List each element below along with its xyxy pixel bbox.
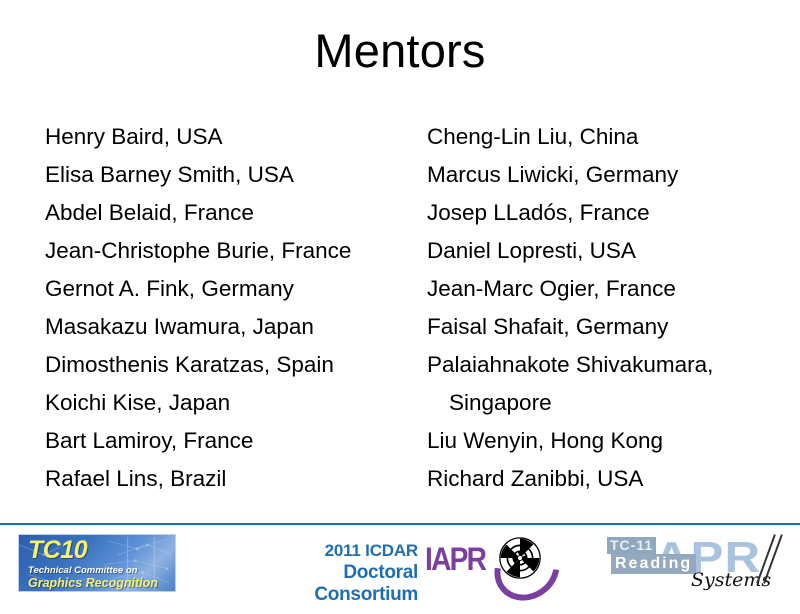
list-item: Faisal Shafait, Germany bbox=[427, 308, 797, 346]
list-item: Koichi Kise, Japan bbox=[45, 384, 425, 422]
list-item: Jean-Marc Ogier, France bbox=[427, 270, 797, 308]
list-item: Bart Lamiroy, France bbox=[45, 422, 425, 460]
list-item: Henry Baird, USA bbox=[45, 118, 425, 156]
mentor-column-right: Cheng-Lin Liu, China Marcus Liwicki, Ger… bbox=[427, 118, 797, 498]
mentor-column-left: Henry Baird, USA Elisa Barney Smith, USA… bbox=[45, 118, 425, 498]
tc10-title: TC10 bbox=[28, 536, 87, 565]
list-item-line-1: Palaiahnakote Shivakumara, bbox=[427, 346, 797, 384]
page-title: Mentors bbox=[0, 22, 800, 80]
mentor-list: Henry Baird, USA Elisa Barney Smith, USA… bbox=[0, 118, 800, 513]
tc11-label-2: Reading bbox=[611, 554, 696, 574]
icdar-doctoral-consortium-logo: 2011 ICDAR Doctoral Consortium bbox=[258, 540, 418, 606]
list-item: Josep LLadós, France bbox=[427, 194, 797, 232]
footer: TC10 Technical Committee on Graphics Rec… bbox=[0, 525, 800, 600]
list-item: Liu Wenyin, Hong Kong bbox=[427, 422, 797, 460]
list-item: Masakazu Iwamura, Japan bbox=[45, 308, 425, 346]
list-item: Jean-Christophe Burie, France bbox=[45, 232, 425, 270]
iapr-logo: IAPR bbox=[425, 537, 570, 589]
list-item: Palaiahnakote Shivakumara, Singapore bbox=[427, 346, 797, 422]
tc10-subtitle-1: Technical Committee on bbox=[28, 565, 137, 576]
iapr-wordmark: IAPR bbox=[425, 541, 485, 578]
tc11-reading-systems-logo: IAPR TC-11 Reading Systems bbox=[605, 531, 795, 595]
list-item: Abdel Belaid, France bbox=[45, 194, 425, 232]
tc11-label-1: TC-11 bbox=[607, 537, 656, 554]
list-item: Richard Zanibbi, USA bbox=[427, 460, 797, 498]
icdar-line-1: 2011 ICDAR bbox=[258, 540, 418, 562]
list-item: Marcus Liwicki, Germany bbox=[427, 156, 797, 194]
icdar-line-2: Doctoral Consortium bbox=[258, 562, 418, 606]
tc10-logo: TC10 Technical Committee on Graphics Rec… bbox=[18, 534, 176, 592]
list-item: Daniel Lopresti, USA bbox=[427, 232, 797, 270]
list-item: Cheng-Lin Liu, China bbox=[427, 118, 797, 156]
tc10-subtitle-2: Graphics Recognition bbox=[28, 576, 158, 590]
list-item: Elisa Barney Smith, USA bbox=[45, 156, 425, 194]
list-item: Gernot A. Fink, Germany bbox=[45, 270, 425, 308]
pinwheel-emblem-icon bbox=[499, 537, 541, 579]
list-item: Dimosthenis Karatzas, Spain bbox=[45, 346, 425, 384]
list-item-line-2: Singapore bbox=[449, 390, 552, 415]
list-item: Rafael Lins, Brazil bbox=[45, 460, 425, 498]
